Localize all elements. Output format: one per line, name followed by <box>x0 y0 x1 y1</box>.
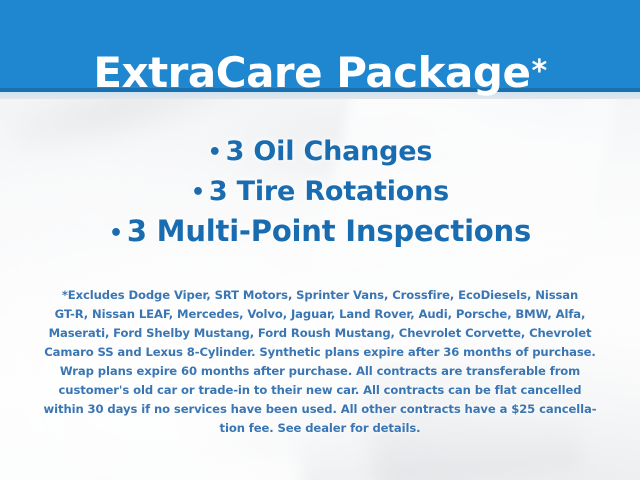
benefit-item-label: 3 Tire Rotations <box>209 176 449 207</box>
disclaimer-line: within 30 days if no services have been … <box>20 400 620 419</box>
benefit-item: •3 Tire Rotations <box>0 172 640 212</box>
benefit-item-label: 3 Oil Changes <box>226 136 433 167</box>
page-title: ExtraCare Package* <box>0 28 640 116</box>
disclaimer-block: *Excludes Dodge Viper, SRT Motors, Sprin… <box>20 286 620 438</box>
disclaimer-line: Camaro SS and Lexus 8-Cylinder. Syntheti… <box>20 343 620 362</box>
bullet-icon: • <box>109 221 123 246</box>
benefit-item-label: 3 Multi-Point Inspections <box>127 214 531 248</box>
disclaimer-line: Maserati, Ford Shelby Mustang, Ford Rous… <box>20 324 620 343</box>
disclaimer-line: Wrap plans expire 60 months after purcha… <box>20 362 620 381</box>
benefits-list: •3 Oil Changes •3 Tire Rotations •3 Mult… <box>0 132 640 253</box>
disclaimer-line: customer's old car or trade-in to their … <box>20 381 620 400</box>
disclaimer-line: GT-R, Nissan LEAF, Mercedes, Volvo, Jagu… <box>20 305 620 324</box>
benefit-item: •3 Oil Changes <box>0 132 640 172</box>
bullet-icon: • <box>208 140 222 165</box>
disclaimer-line: *Excludes Dodge Viper, SRT Motors, Sprin… <box>20 286 620 305</box>
disclaimer-line: tion fee. See dealer for details. <box>20 419 620 438</box>
bullet-icon: • <box>191 180 205 205</box>
benefit-item: •3 Multi-Point Inspections <box>0 212 640 253</box>
page-title-text: ExtraCare Package <box>93 48 530 97</box>
extracare-promo-card: ExtraCare Package* •3 Oil Changes •3 Tir… <box>0 0 640 480</box>
